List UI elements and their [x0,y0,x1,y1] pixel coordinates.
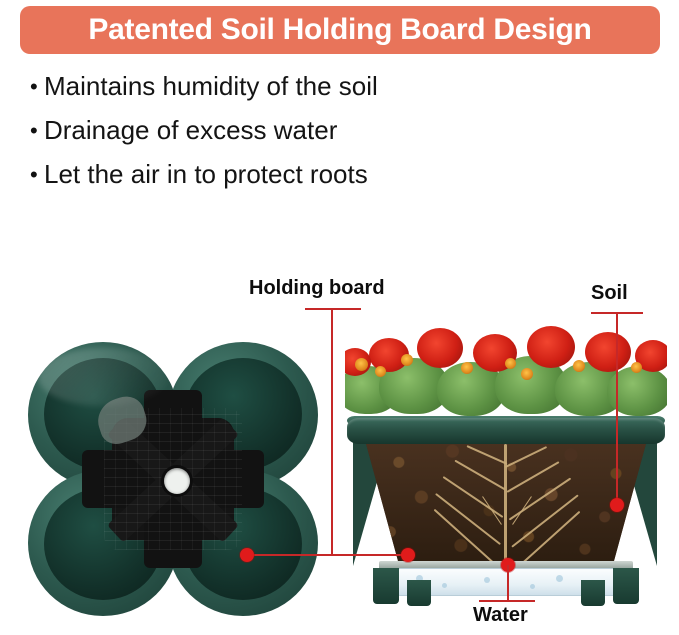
root-system [365,440,647,564]
list-item: • Maintains humidity of the soil [30,72,590,101]
center-drain-hole [164,468,190,494]
planter-cross-section [345,318,667,618]
bullet-icon: • [30,76,44,98]
flower-orange [521,368,533,380]
holding-board-insert [82,390,264,568]
water-leader-stem [507,565,509,601]
feature-text: Drainage of excess water [44,116,337,145]
water-droplet [530,584,535,589]
list-item: • Drainage of excess water [30,116,590,145]
pot-foot [407,580,431,606]
callout-label-holding-board: Holding board [249,278,385,298]
callout-label-water: Water [473,605,528,625]
flower-orange [505,358,516,369]
holding-board-leader-bridge [247,554,415,556]
list-item: • Let the air in to protect roots [30,160,590,189]
flower-orange [573,360,585,372]
holding-board-marker-right [401,548,415,562]
holding-board-leader-stem [331,308,333,555]
holding-board-marker-left [240,548,254,562]
water-droplet [484,577,490,583]
callout-label-soil: Soil [591,283,628,303]
root-branch [466,445,507,465]
pot-foot [613,568,639,604]
page-title: Patented Soil Holding Board Design [88,15,591,45]
root-branch [507,461,560,493]
feature-text: Maintains humidity of the soil [44,72,378,101]
pot-foot [581,580,605,606]
product-diagram: Holding board Soil Water [0,250,679,635]
flower-red [417,328,463,368]
flower-orange [631,362,642,373]
soil-leader-stem [616,312,618,506]
flower-orange [461,362,473,374]
soil-holding-board-top-view [22,338,322,618]
flower-orange [355,358,368,371]
water-droplet [556,575,563,582]
header-banner: Patented Soil Holding Board Design [20,6,660,54]
root-branch [454,460,505,491]
root-branch [505,446,547,468]
bullet-icon: • [30,164,44,186]
root-fiber [482,496,502,525]
soil-marker [610,498,624,512]
feature-list: • Maintains humidity of the soil • Drain… [30,72,590,204]
holding-board-leader-tick [305,308,361,310]
bullet-icon: • [30,120,44,142]
flower-red [585,332,631,372]
feature-text: Let the air in to protect roots [44,160,368,189]
flower-orange [375,366,386,377]
flower-red [527,326,575,368]
plant-foliage [345,318,667,426]
pot-foot [373,568,399,604]
root-fiber [512,496,532,525]
flower-orange [401,354,413,366]
water-droplet [442,583,447,588]
water-leader-tick [479,600,535,602]
